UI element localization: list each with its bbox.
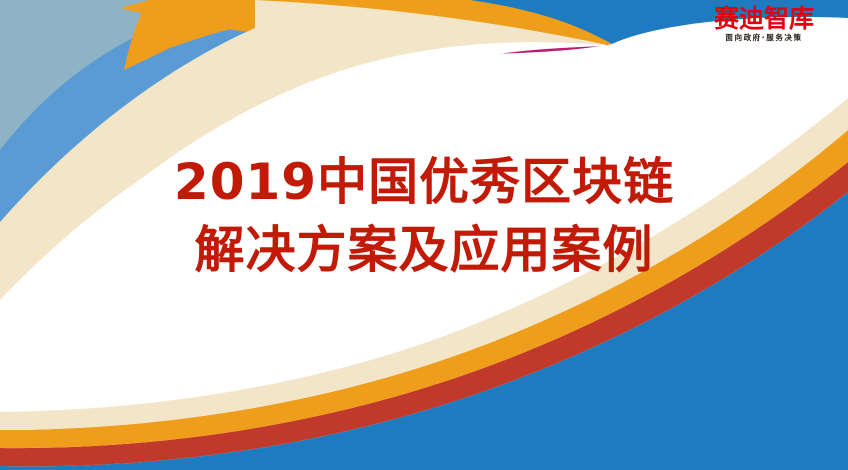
ribbon-bluegray-left (0, 0, 230, 168)
title-line-2: 解决方案及应用案例 (0, 216, 848, 284)
brand-logo: 赛迪智库 面向政府·服务决策 (704, 6, 824, 42)
ribbon-orange-top-wide (120, 0, 612, 48)
logo-tagline: 面向政府·服务决策 (704, 34, 824, 42)
logo-wordmark: 赛迪智库 (704, 6, 824, 31)
ribbon-magenta-top (120, 0, 612, 54)
ribbon-orange-top (124, 0, 612, 70)
page-title: 2019中国优秀区块链 解决方案及应用案例 (0, 148, 848, 284)
title-slide: 赛迪智库 面向政府·服务决策 2019中国优秀区块链 解决方案及应用案例 (0, 0, 848, 470)
title-line-1: 2019中国优秀区块链 (0, 148, 848, 216)
